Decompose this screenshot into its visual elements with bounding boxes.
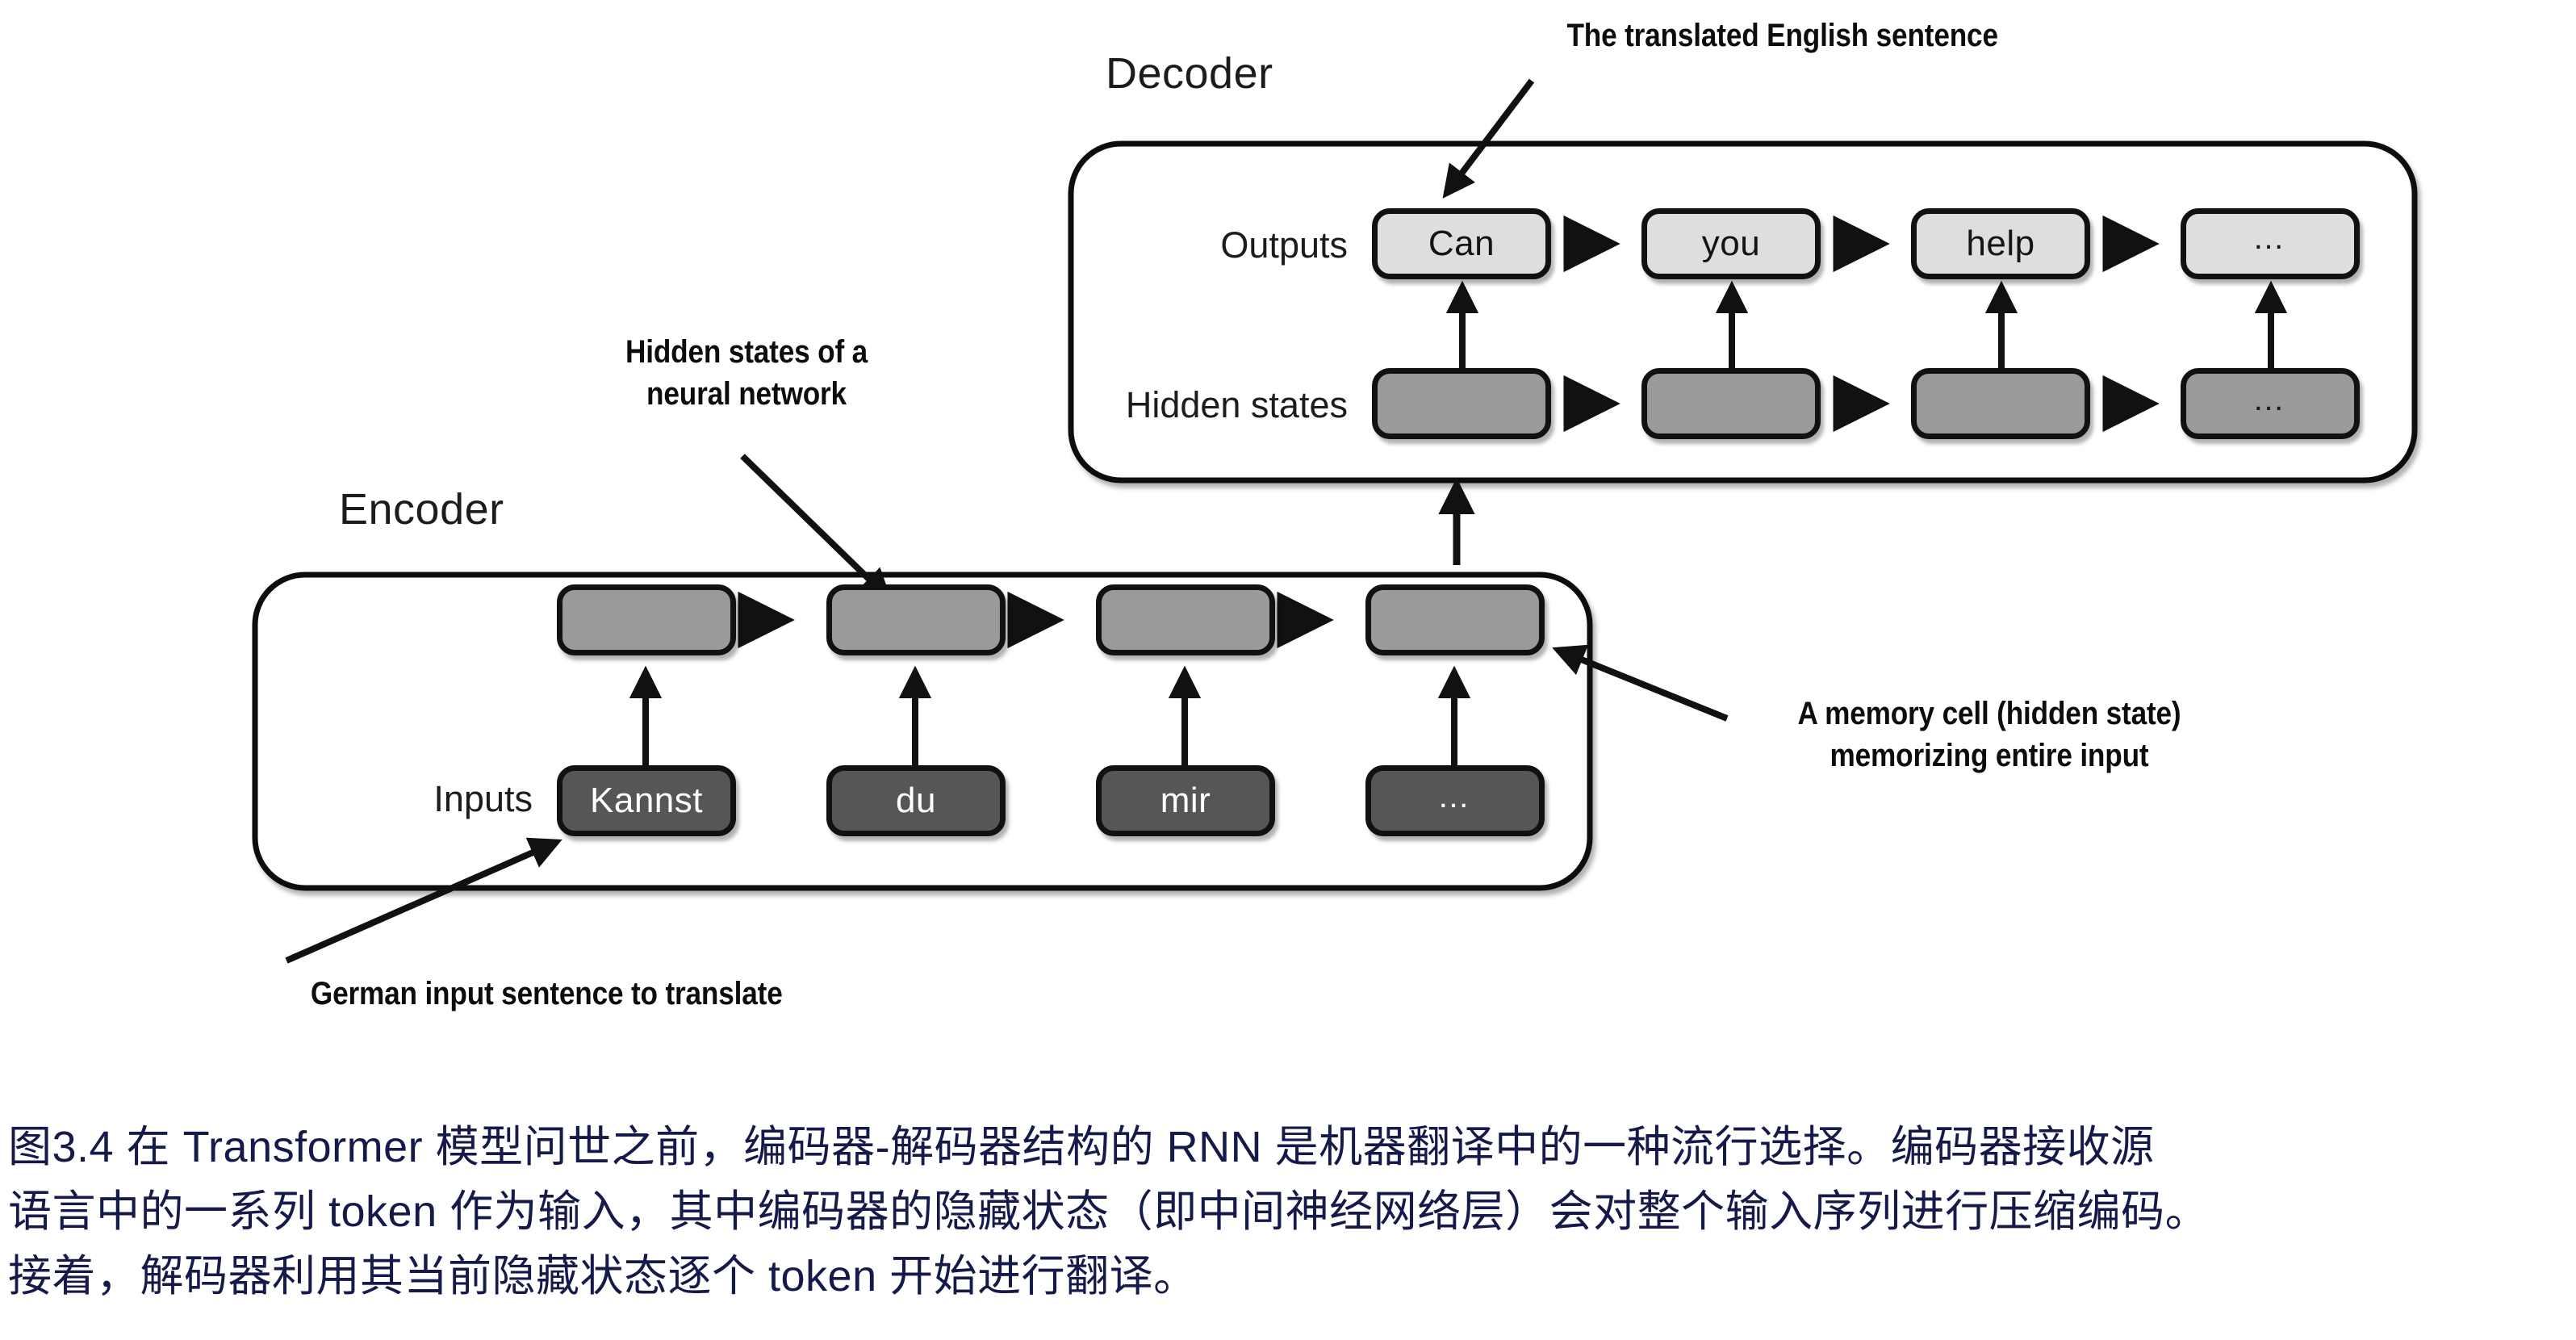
memory-cell-annotation-leader: [1558, 650, 1727, 718]
german-input-annotation: German input sentence to translate: [311, 973, 783, 1015]
memory-cell-annotation-line1: A memory cell (hidden state): [1738, 693, 2242, 735]
decoder-title: Decoder: [1106, 48, 1273, 98]
decoder-output-box-0[interactable]: Can: [1372, 208, 1551, 279]
german-input-annotation-leader: [286, 842, 557, 961]
encoder-input-box-0[interactable]: Kannst: [557, 765, 736, 836]
encoder-input-text-0: Kannst: [590, 781, 703, 821]
encoder-input-text-2: mir: [1160, 781, 1211, 821]
encoder-input-box-1[interactable]: du: [826, 765, 1006, 836]
hidden-states-annotation-line2: neural network: [587, 373, 906, 415]
encoder-hidden-state-box-0[interactable]: [557, 584, 736, 655]
encoder-hidden-state-box-2[interactable]: [1096, 584, 1275, 655]
memory-cell-annotation-line2: memorizing entire input: [1738, 735, 2242, 777]
encoder-hidden-state-box-3[interactable]: [1365, 584, 1545, 655]
decoder-outputs-label: Outputs: [952, 224, 1348, 266]
encoder-title: Encoder: [339, 484, 504, 534]
encoder-input-text-1: du: [896, 781, 936, 821]
decoder-output-text-0: Can: [1428, 224, 1495, 264]
encoder-hidden-state-box-1[interactable]: [826, 584, 1006, 655]
decoder-output-box-3[interactable]: …: [2181, 208, 2360, 279]
figure-diagram: Decoder Encoder Outputs Hidden states Ca…: [0, 0, 2576, 1340]
decoder-vertical-arrows: [1462, 287, 2271, 373]
decoder-hidden-states-label: Hidden states: [952, 384, 1348, 426]
encoder-vertical-arrows: [646, 672, 1454, 767]
encoder-input-text-3: …: [1437, 790, 1473, 811]
translated-sentence-leader: [1446, 81, 1532, 194]
decoder-output-text-3: …: [2252, 232, 2288, 256]
encoder-input-box-2[interactable]: mir: [1096, 765, 1275, 836]
hidden-states-annotation-leader: [742, 456, 888, 597]
decoder-output-box-1[interactable]: you: [1641, 208, 1821, 279]
figure-caption-line-1: 图3.4 在 Transformer 模型问世之前，编码器-解码器结构的 RNN…: [8, 1116, 2574, 1180]
encoder-inputs-label: Inputs: [291, 778, 533, 820]
figure-caption-line-3: 接着，解码器利用其当前隐藏状态逐个 token 开始进行翻译。: [8, 1245, 2574, 1309]
decoder-hidden-state-box-3[interactable]: …: [2181, 368, 2360, 439]
decoder-output-text-1: you: [1702, 224, 1760, 264]
translated-sentence-annotation: The translated English sentence: [1566, 15, 1997, 57]
decoder-hidden-state-text-3: …: [2252, 393, 2288, 414]
decoder-hidden-state-box-2[interactable]: [1911, 368, 2090, 439]
decoder-output-box-2[interactable]: help: [1911, 208, 2090, 279]
memory-cell-annotation: A memory cell (hidden state) memorizing …: [1738, 693, 2242, 777]
figure-caption-line-2: 语言中的一系列 token 作为输入，其中编码器的隐藏状态（即中间神经网络层）会…: [8, 1180, 2574, 1245]
decoder-hidden-state-box-1[interactable]: [1641, 368, 1821, 439]
encoder-input-box-3[interactable]: …: [1365, 765, 1545, 836]
figure-caption: 图3.4 在 Transformer 模型问世之前，编码器-解码器结构的 RNN…: [8, 1116, 2574, 1309]
decoder-hidden-state-box-0[interactable]: [1372, 368, 1551, 439]
hidden-states-annotation: Hidden states of a neural network: [587, 331, 906, 415]
hidden-states-annotation-line1: Hidden states of a: [587, 331, 906, 373]
decoder-output-text-2: help: [1966, 224, 2034, 264]
